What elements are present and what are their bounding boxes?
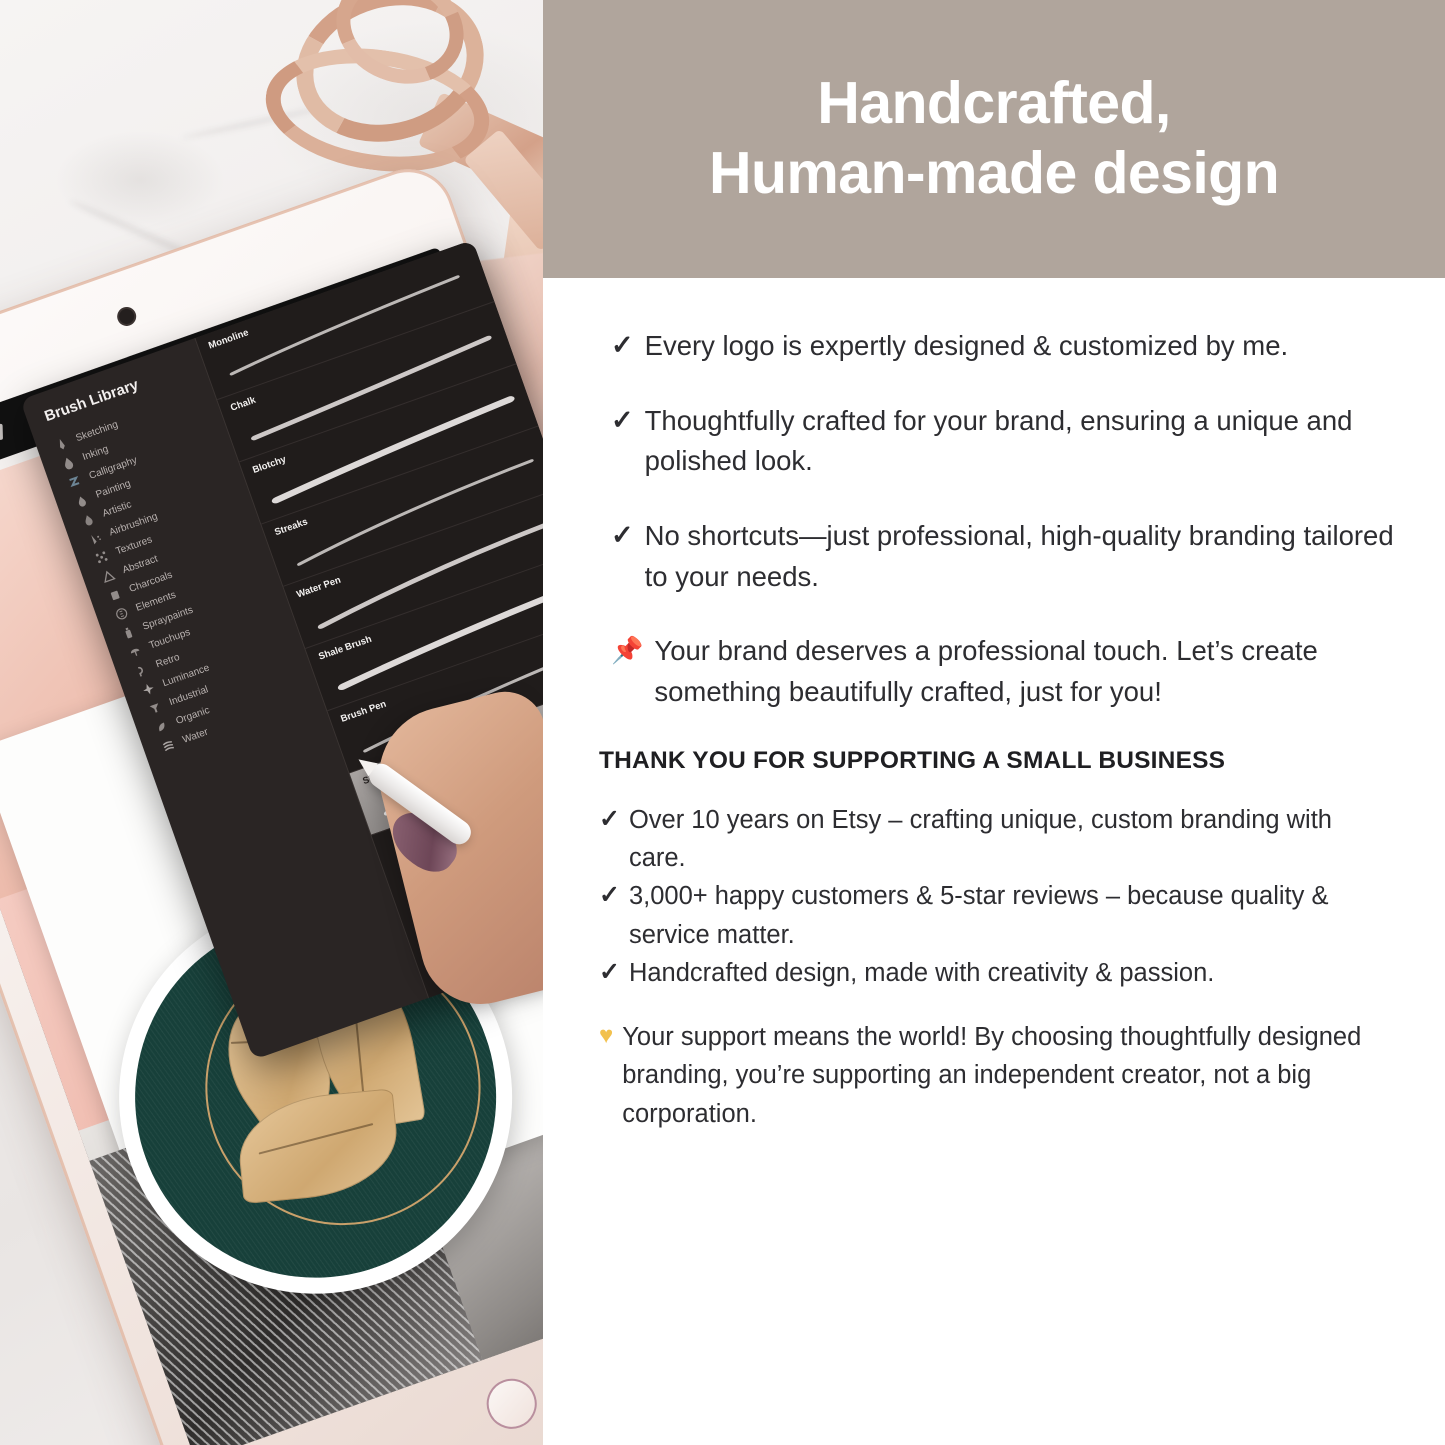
- benefit-item: 📌Your brand deserves a professional touc…: [599, 631, 1395, 712]
- page-title: Handcrafted, Human-made design: [709, 69, 1279, 208]
- page-title-line2: Human-made design: [709, 140, 1279, 206]
- artistic-drop-icon: [80, 511, 97, 528]
- ink-drop-icon: [60, 454, 77, 471]
- elements-circle-icon: [113, 605, 130, 622]
- calligraphy-nib-icon: [67, 473, 84, 490]
- benefit-text: Every logo is expertly designed & custom…: [645, 326, 1395, 367]
- thank-you-heading: THANK YOU FOR SUPPORTING A SMALL BUSINES…: [599, 747, 1395, 775]
- eraser-icon[interactable]: [0, 417, 10, 446]
- benefit-text: No shortcuts—just professional, high-qua…: [645, 516, 1395, 597]
- brush-category-label: Water: [181, 726, 209, 745]
- retro-icon: [133, 662, 150, 679]
- industrial-icon: [147, 699, 164, 716]
- check-mark-icon: ✓: [599, 801, 620, 839]
- benefit-item: ✓Every logo is expertly designed & custo…: [599, 326, 1395, 367]
- texture-dots-icon: [93, 548, 110, 565]
- check-mark-icon: ✓: [611, 326, 634, 366]
- closing-text: Your support means the world! By choosin…: [622, 1018, 1395, 1133]
- triangle-icon: [100, 567, 117, 584]
- benefit-text: Thoughtfully crafted for your brand, ens…: [645, 401, 1395, 482]
- paint-drop-icon: [73, 492, 90, 509]
- benefit-list: ✓Every logo is expertly designed & custo…: [599, 326, 1395, 713]
- benefit-item: ✓No shortcuts—just professional, high-qu…: [599, 516, 1395, 597]
- content-column: Handcrafted, Human-made design ✓Every lo…: [543, 0, 1445, 1445]
- spray-can-icon: [120, 624, 137, 641]
- check-mark-icon: ✓: [599, 877, 620, 915]
- page-title-line1: Handcrafted,: [817, 70, 1170, 136]
- header-banner: Handcrafted, Human-made design: [543, 0, 1445, 278]
- airbrush-icon: [87, 530, 104, 547]
- etsy-listing-graphic: MERAKI + BL: [0, 0, 1445, 1445]
- credential-item: ✓Over 10 years on Etsy – crafting unique…: [599, 801, 1395, 878]
- credential-text: Handcrafted design, made with creativity…: [629, 954, 1214, 992]
- leaf-icon: [153, 718, 170, 735]
- benefit-text: Your brand deserves a professional touch…: [654, 631, 1395, 712]
- check-mark-icon: ✓: [611, 516, 634, 556]
- body-content: ✓Every logo is expertly designed & custo…: [543, 278, 1445, 1133]
- waves-icon: [160, 737, 177, 754]
- closing-paragraph: ♥ Your support means the world! By choos…: [599, 1018, 1395, 1133]
- product-photo: MERAKI + BL: [0, 0, 543, 1445]
- pencil-tip-icon: [53, 435, 70, 452]
- pushpin-icon: 📌: [611, 631, 643, 669]
- credential-item: ✓3,000+ happy customers & 5-star reviews…: [599, 877, 1395, 954]
- benefit-item: ✓Thoughtfully crafted for your brand, en…: [599, 401, 1395, 482]
- credential-text: Over 10 years on Etsy – crafting unique,…: [629, 801, 1395, 878]
- yellow-heart-icon: ♥: [599, 1018, 613, 1054]
- charcoal-block-icon: [107, 586, 124, 603]
- credential-item: ✓Handcrafted design, made with creativit…: [599, 954, 1395, 992]
- check-mark-icon: ✓: [599, 954, 620, 992]
- credential-text: 3,000+ happy customers & 5-star reviews …: [629, 877, 1395, 954]
- credentials-list: ✓Over 10 years on Etsy – crafting unique…: [599, 801, 1395, 992]
- sparkle-icon: [140, 680, 157, 697]
- touchup-icon: [127, 643, 144, 660]
- check-mark-icon: ✓: [611, 401, 634, 441]
